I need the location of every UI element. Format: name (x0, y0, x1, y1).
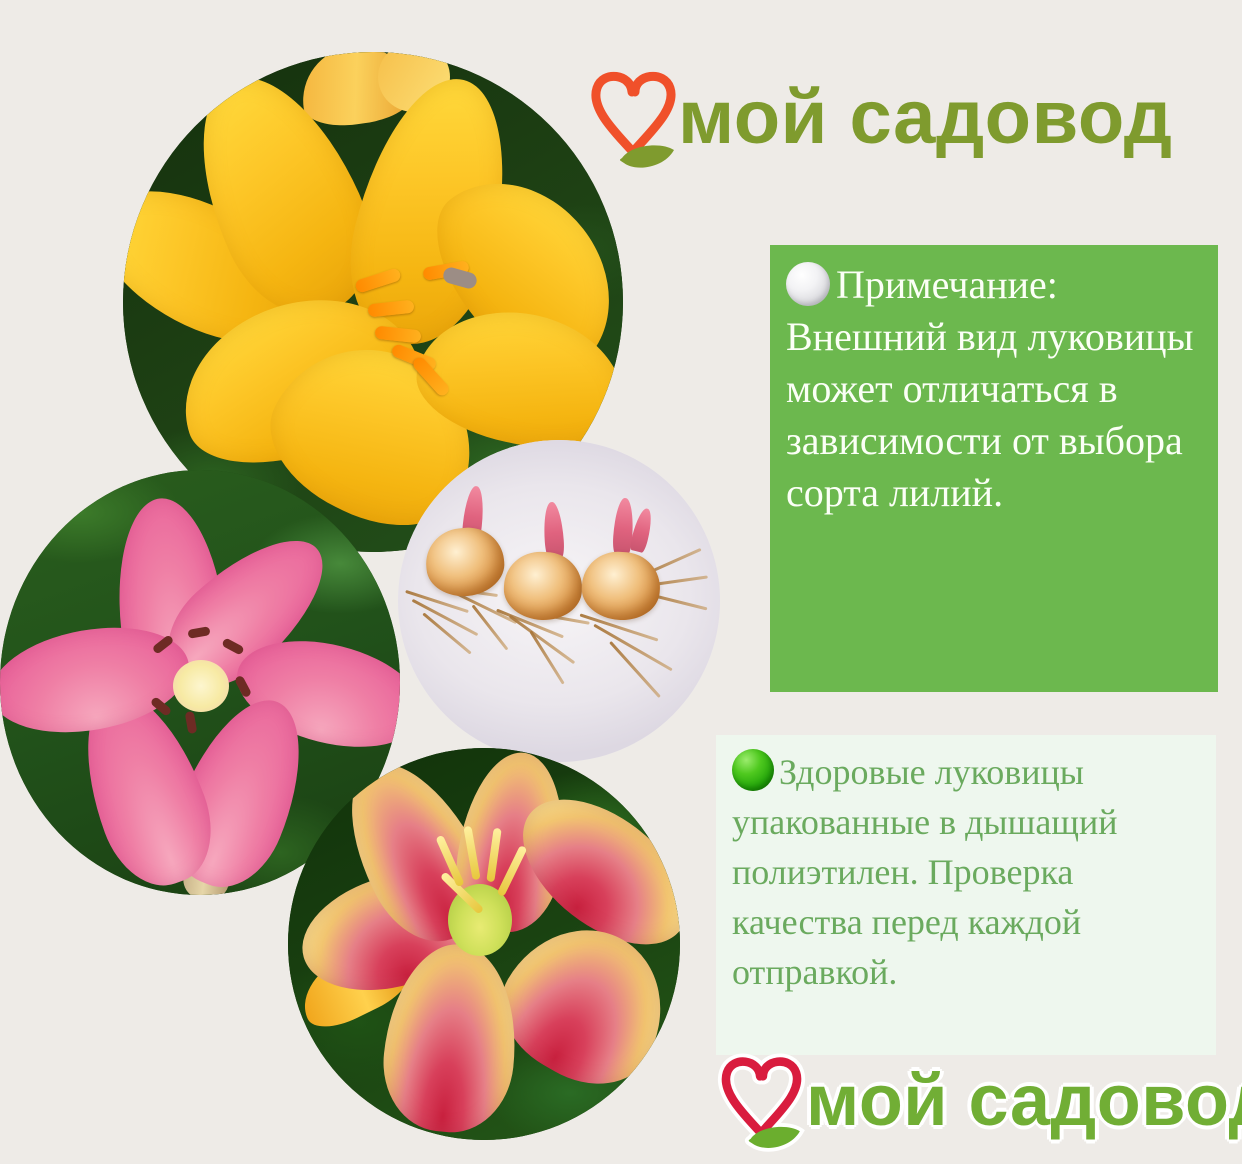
logo-mark (716, 1048, 808, 1154)
heart-leaf-logo-icon (716, 1048, 808, 1154)
quality-panel: Здоровые луковицы упакованные в дышащий … (716, 735, 1216, 1055)
quality-panel-text: Здоровые луковицы упакованные в дышащий … (732, 747, 1200, 997)
brand-wordmark: мой садовод (806, 1065, 1242, 1137)
promo-card: мой садовод Примечание: Внешний вид луко… (0, 0, 1242, 1164)
heart-leaf-logo-icon (586, 62, 682, 174)
brand-logo-top: мой садовод (586, 62, 1173, 174)
brand-logo-bottom: мой садовод (716, 1048, 1242, 1154)
note-panel-body: Примечание: Внешний вид луковицы может о… (786, 262, 1193, 515)
white-circle-bullet-icon (786, 262, 830, 306)
note-panel: Примечание: Внешний вид луковицы может о… (770, 245, 1218, 692)
photo-bicolor-lily (288, 748, 680, 1140)
photo-lily-bulbs (398, 440, 720, 762)
green-circle-bullet-icon (732, 749, 774, 791)
quality-panel-body: Здоровые луковицы упакованные в дышащий … (732, 752, 1118, 992)
brand-wordmark: мой садовод (678, 80, 1173, 156)
lily-bulb (503, 551, 583, 622)
note-panel-text: Примечание: Внешний вид луковицы может о… (786, 259, 1200, 519)
lily-center (173, 660, 229, 712)
heart-outline-icon (596, 76, 671, 152)
logo-mark (586, 62, 682, 174)
